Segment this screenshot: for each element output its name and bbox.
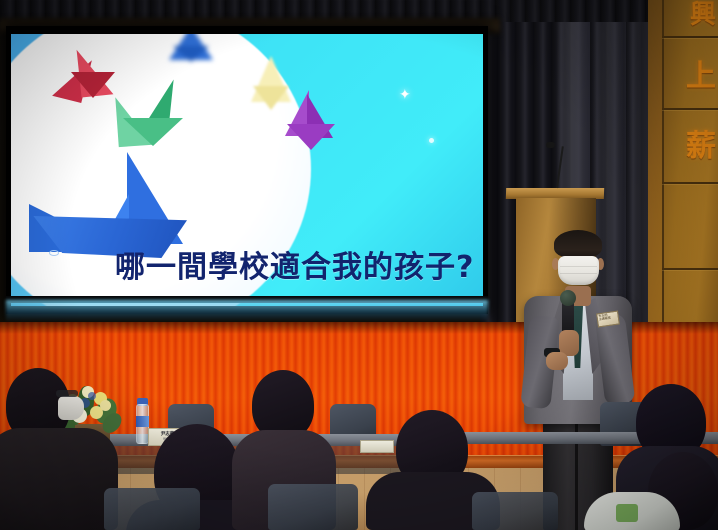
mask-pleat bbox=[560, 266, 597, 267]
mask-pleat bbox=[560, 273, 597, 274]
calligraphy-char-2: 上 bbox=[686, 62, 716, 92]
panel-divider bbox=[662, 108, 718, 110]
badge-role: 主講嘉賓 bbox=[599, 316, 617, 322]
sparkle-dot bbox=[429, 138, 434, 143]
face-mask bbox=[58, 396, 84, 420]
name-placard-secondary bbox=[360, 440, 394, 453]
projection-screen: ✦ 哪一間學校適合我的孩子? bbox=[11, 34, 483, 306]
shirt-graphic bbox=[616, 504, 638, 522]
eyeglasses bbox=[56, 390, 78, 397]
gold-panel-column bbox=[662, 0, 718, 362]
face-mask bbox=[558, 256, 599, 285]
gold-panel-wall: 興 上 薪 bbox=[648, 0, 718, 362]
screen-light-spill bbox=[6, 300, 488, 322]
origami-boat-green bbox=[115, 78, 191, 150]
calligraphy-char-1: 興 bbox=[690, 2, 716, 28]
gooseneck-microphone-head bbox=[546, 142, 555, 148]
panel-divider bbox=[662, 268, 718, 270]
curtain-fold bbox=[592, 0, 626, 335]
panel-divider bbox=[662, 36, 718, 38]
audience-chair bbox=[104, 488, 200, 530]
presenter-hand-holding-clicker bbox=[546, 352, 568, 370]
sparkle-star: ✦ bbox=[399, 86, 411, 103]
handheld-microphone-head bbox=[560, 290, 576, 306]
origami-boat-blue-back bbox=[169, 34, 215, 66]
presenter-hair bbox=[554, 230, 602, 258]
panel-divider bbox=[662, 182, 718, 184]
water-bottle-label bbox=[136, 416, 149, 427]
audience-chair bbox=[472, 492, 558, 530]
origami-boat-red bbox=[57, 42, 117, 104]
calligraphy-char-3: 薪 bbox=[686, 132, 716, 162]
seminar-photo: 興 上 薪 bbox=[0, 0, 718, 530]
slide-title: 哪一間學校適合我的孩子? bbox=[115, 242, 474, 286]
audience-chair bbox=[268, 484, 358, 530]
origami-boat-purple bbox=[283, 90, 337, 152]
